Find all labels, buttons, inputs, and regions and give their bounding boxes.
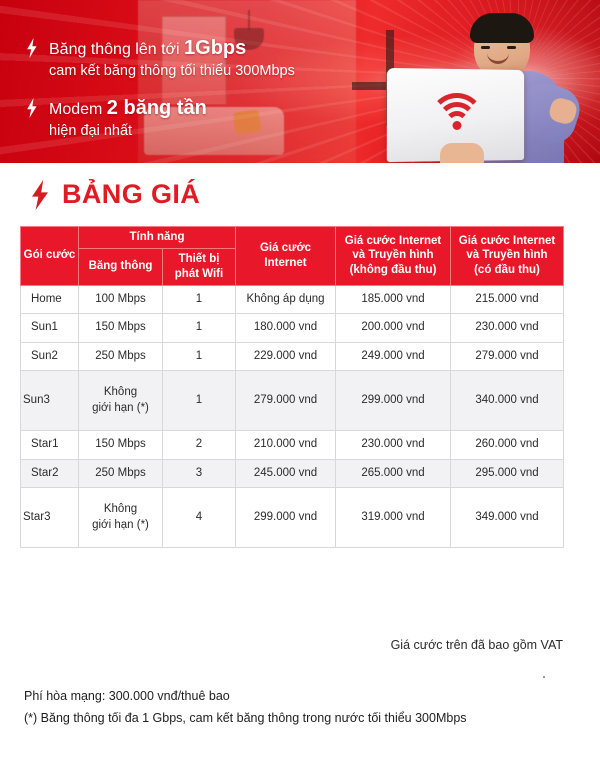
person-left-eye: [481, 46, 490, 49]
cell-bandwidth: Không giới hạn (*): [79, 488, 163, 548]
cell-tv-with-receiver: 349.000 vnd: [451, 488, 564, 548]
section-title-row: BẢNG GIÁ: [30, 179, 200, 210]
cell-tv-no-receiver: 249.000 vnd: [336, 342, 451, 371]
col-header-tv-no-receiver-line3: (không đầu thu): [338, 263, 448, 278]
col-header-tv-no-receiver: Giá cước Internet và Truyền hình (không …: [336, 227, 451, 286]
table-row[interactable]: Sun3Không giới hạn (*)1279.000 vnd299.00…: [21, 371, 564, 431]
lightning-bolt-icon: [26, 98, 38, 118]
col-header-tv-with-receiver-line2: và Truyền hình: [453, 248, 561, 263]
table-row[interactable]: Sun2250 Mbps1229.000 vnd249.000 vnd279.0…: [21, 342, 564, 371]
cell-bandwidth: 150 Mbps: [79, 314, 163, 343]
cell-wifi-device: 3: [163, 459, 236, 488]
cell-tv-with-receiver: 295.000 vnd: [451, 459, 564, 488]
cell-tv-no-receiver: 265.000 vnd: [336, 459, 451, 488]
cell-tv-no-receiver: 299.000 vnd: [336, 371, 451, 431]
cell-wifi-device: 1: [163, 342, 236, 371]
cell-bandwidth: 150 Mbps: [79, 431, 163, 460]
banner-copy: Băng thông lên tới 1Gbps cam kết băng th…: [26, 36, 356, 156]
cell-bandwidth: 250 Mbps: [79, 342, 163, 371]
col-header-tv-with-receiver: Giá cước Internet và Truyền hình (có đầu…: [451, 227, 564, 286]
cell-tv-no-receiver: 185.000 vnd: [336, 285, 451, 314]
cell-tv-with-receiver: 260.000 vnd: [451, 431, 564, 460]
table-body: Home100 Mbps1Không áp dụng185.000 vnd215…: [21, 285, 564, 548]
cell-bandwidth: 250 Mbps: [79, 459, 163, 488]
col-header-wifi-device: Thiết bị phát Wifi: [163, 248, 236, 285]
cell-bandwidth: 100 Mbps: [79, 285, 163, 314]
bullet-2-line2: hiện đại nhất: [49, 122, 207, 141]
cell-tv-no-receiver: 200.000 vnd: [336, 314, 451, 343]
col-header-internet-price: Giá cước Internet: [236, 227, 336, 286]
cell-wifi-device: 1: [163, 314, 236, 343]
cell-package: Home: [21, 285, 79, 314]
cell-wifi-device: 4: [163, 488, 236, 548]
person-hair: [470, 13, 534, 43]
banner-bullet-1: Băng thông lên tới 1Gbps cam kết băng th…: [26, 36, 356, 80]
table-row[interactable]: Star3Không giới hạn (*)4299.000 vnd319.0…: [21, 488, 564, 548]
col-header-package: Gói cước: [21, 227, 79, 286]
cell-internet-price: 245.000 vnd: [236, 459, 336, 488]
cell-wifi-device: 2: [163, 431, 236, 460]
cell-package: Star3: [21, 488, 79, 548]
cell-package: Sun1: [21, 314, 79, 343]
bullet-1-line1-strong: 1Gbps: [184, 37, 246, 59]
table-row[interactable]: Sun1150 Mbps1180.000 vnd200.000 vnd230.0…: [21, 314, 564, 343]
cell-package: Sun3: [21, 371, 79, 431]
person-with-laptop-photo: [388, 13, 578, 163]
table-row[interactable]: Star2250 Mbps3245.000 vnd265.000 vnd295.…: [21, 459, 564, 488]
promo-banner: Băng thông lên tới 1Gbps cam kết băng th…: [0, 0, 600, 163]
bullet-1-line1-prefix: Băng thông lên tới: [49, 41, 184, 58]
person-right-eye: [507, 46, 516, 49]
cell-tv-no-receiver: 319.000 vnd: [336, 488, 451, 548]
cell-package: Star2: [21, 459, 79, 488]
footer-notes: Phí hòa mạng: 300.000 vnđ/thuê bao (*) B…: [24, 686, 467, 729]
cell-package: Sun2: [21, 342, 79, 371]
cell-internet-price: 210.000 vnd: [236, 431, 336, 460]
person-holding-hand: [440, 143, 484, 163]
lightning-bolt-icon: [26, 38, 38, 58]
col-header-internet-price-line1: Giá cước: [238, 241, 333, 256]
cell-tv-with-receiver: 215.000 vnd: [451, 285, 564, 314]
col-header-features: Tính năng: [79, 227, 236, 249]
cell-internet-price: 279.000 vnd: [236, 371, 336, 431]
banner-bullet-2: Modem 2 băng tần hiện đại nhất: [26, 96, 356, 140]
cell-wifi-device: 1: [163, 285, 236, 314]
col-header-tv-with-receiver-line1: Giá cước Internet: [453, 234, 561, 249]
wifi-icon: [431, 93, 483, 133]
stray-dot-artifact: [543, 676, 545, 678]
col-header-bandwidth: Băng thông: [79, 248, 163, 285]
cell-bandwidth: Không giới hạn (*): [79, 371, 163, 431]
col-header-tv-no-receiver-line2: và Truyền hình: [338, 248, 448, 263]
bullet-2-line1-prefix: Modem: [49, 101, 107, 118]
cell-tv-with-receiver: 279.000 vnd: [451, 342, 564, 371]
cell-package: Star1: [21, 431, 79, 460]
col-header-tv-no-receiver-line1: Giá cước Internet: [338, 234, 448, 249]
asterisk-note: (*) Băng thông tối đa 1 Gbps, cam kết bă…: [24, 708, 467, 730]
cell-tv-with-receiver: 230.000 vnd: [451, 314, 564, 343]
table-row[interactable]: Home100 Mbps1Không áp dụng185.000 vnd215…: [21, 285, 564, 314]
col-header-internet-price-line2: Internet: [238, 256, 333, 271]
cell-internet-price: Không áp dụng: [236, 285, 336, 314]
install-fee-note: Phí hòa mạng: 300.000 vnđ/thuê bao: [24, 686, 467, 708]
cell-wifi-device: 1: [163, 371, 236, 431]
price-table: Gói cước Tính năng Giá cước Internet Giá…: [20, 226, 564, 548]
lightning-bolt-icon: [30, 180, 50, 210]
table-row[interactable]: Star1150 Mbps2210.000 vnd230.000 vnd260.…: [21, 431, 564, 460]
bullet-2-line1-strong: 2 băng tần: [107, 97, 207, 119]
vat-note: Giá cước trên đã bao gồm VAT: [0, 638, 563, 652]
cell-internet-price: 299.000 vnd: [236, 488, 336, 548]
col-header-tv-with-receiver-line3: (có đầu thu): [453, 263, 561, 278]
cell-internet-price: 229.000 vnd: [236, 342, 336, 371]
cell-tv-with-receiver: 340.000 vnd: [451, 371, 564, 431]
table-header: Gói cước Tính năng Giá cước Internet Giá…: [21, 227, 564, 286]
cell-tv-no-receiver: 230.000 vnd: [336, 431, 451, 460]
table-header-row-1: Gói cước Tính năng Giá cước Internet Giá…: [21, 227, 564, 249]
cell-internet-price: 180.000 vnd: [236, 314, 336, 343]
page-title: BẢNG GIÁ: [62, 179, 200, 210]
bullet-1-line2: cam kết băng thông tối thiểu 300Mbps: [49, 62, 295, 81]
